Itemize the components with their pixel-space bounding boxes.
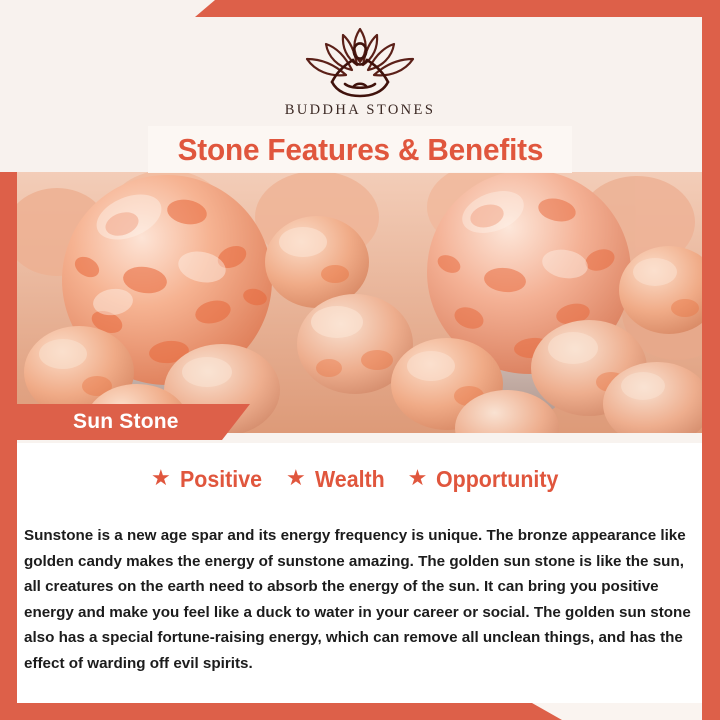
brand-name: BUDDHA STONES [285,102,436,119]
star-icon: ★ [286,467,306,489]
stone-info-poster: BUDDHA STONES [0,0,720,720]
page-title: Stone Features & Benefits [177,132,543,168]
stone-description: Sunstone is a new age spar and its energ… [24,523,696,676]
benefit-item-positive: ★ Positive [151,466,268,493]
frame-right [702,0,720,720]
star-icon: ★ [408,467,428,489]
frame-left-lower [0,430,17,720]
stone-name-label: Sun Stone [73,410,179,434]
frame-top [195,0,720,17]
benefit-item-wealth: ★ Wealth [286,466,390,493]
benefit-label-opportunity: Opportunity [436,466,558,493]
stone-name-tag: Sun Stone [0,404,250,440]
benefit-item-opportunity: ★ Opportunity [408,466,568,493]
frame-left-upper [0,172,17,434]
stone-photo [17,172,702,434]
star-icon: ★ [151,467,171,489]
frame-bottom [0,703,562,720]
benefit-label-positive: Positive [180,466,262,493]
title-banner: Stone Features & Benefits [148,126,572,173]
lotus-meditation-icon [290,22,430,100]
benefit-label-wealth: Wealth [315,466,385,493]
sunstone-photo-illustration [17,172,702,434]
brand-logo: BUDDHA STONES [0,22,720,119]
benefits-row: ★ Positive ★ Wealth ★ Opportunity [17,458,702,500]
